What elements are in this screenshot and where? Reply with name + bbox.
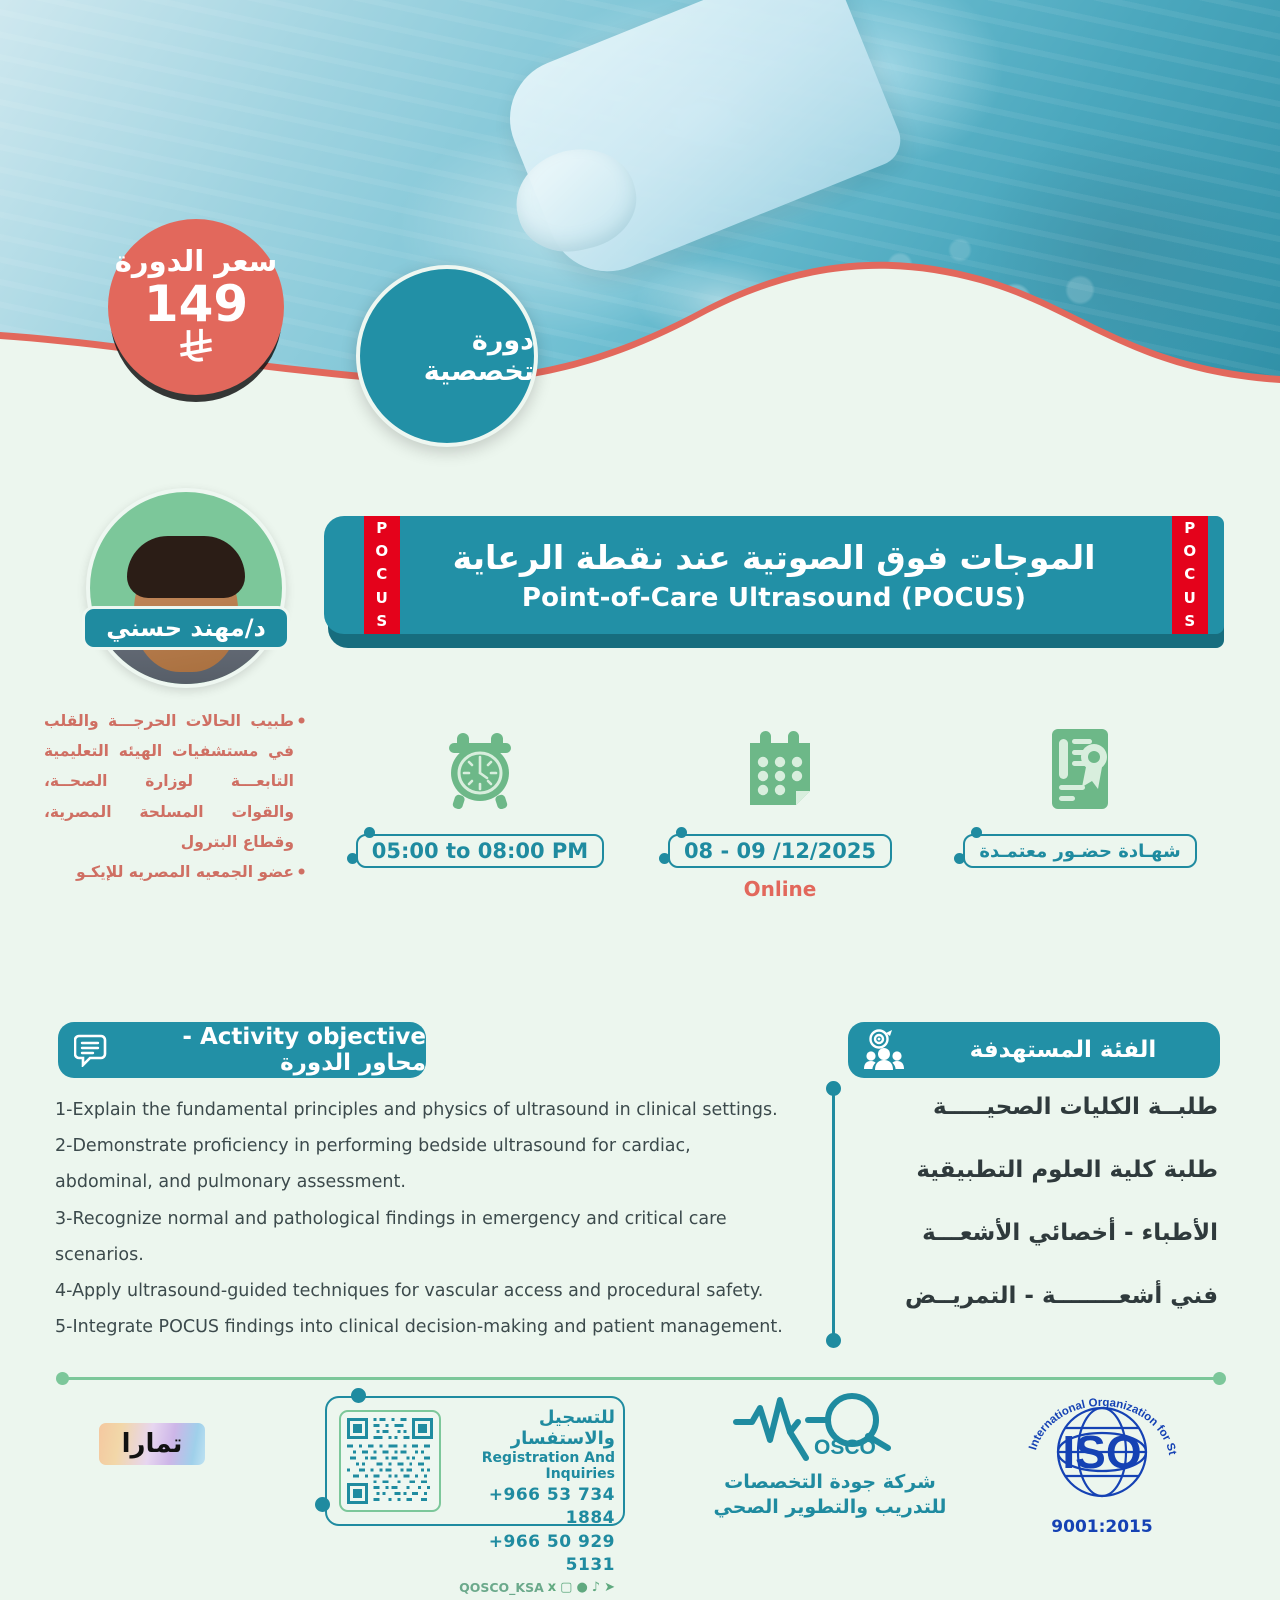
chip-dot <box>971 827 982 838</box>
qosco-logo-block: OSCO شركة جودة التخصصات للتدريب والتطوير… <box>700 1392 960 1519</box>
tiktok-icon[interactable]: ♪ <box>592 1580 600 1595</box>
qosco-logo-icon: OSCO <box>730 1392 930 1462</box>
qosco-name-line1: شركة جودة التخصصات <box>700 1470 960 1495</box>
iso-logo-icon: International Organization for Standardi… <box>1017 1380 1187 1512</box>
calendar-icon <box>744 726 816 812</box>
course-title-banner: الموجات فوق الصوتية عند نقطة الرعاية Poi… <box>324 516 1224 642</box>
chat-lines-icon <box>74 1033 110 1067</box>
chip-dot <box>954 853 965 864</box>
instagram-icon[interactable]: ▢ <box>560 1580 572 1595</box>
price-label: سعر الدورة <box>115 247 277 276</box>
social-row: QOSCO_KSA x ▢ ● ♪ ➤ <box>451 1580 615 1595</box>
alarm-clock-icon <box>441 726 519 812</box>
objective-item: 2-Demonstrate proficiency in performing … <box>55 1128 785 1200</box>
contact-phone-1[interactable]: +966 53 734 1884 <box>451 1484 615 1529</box>
audience-timeline <box>832 1087 835 1342</box>
objectives-list: 1-Explain the fundamental principles and… <box>55 1092 785 1346</box>
chip-dot <box>347 853 358 864</box>
objective-item: 3-Recognize normal and pathological find… <box>55 1201 785 1273</box>
chip-dot <box>315 1497 330 1512</box>
chip-dot <box>364 827 375 838</box>
info-certificate: شهـادة حضـور معتمـدة <box>930 726 1230 868</box>
avatar-hair <box>127 536 245 598</box>
qr-pattern <box>347 1418 433 1504</box>
iso-number: 9001:2015 <box>1012 1517 1192 1537</box>
contact-phone-2[interactable]: +966 50 929 5131 <box>451 1531 615 1576</box>
objectives-title: Activity objective - محاور الدورة <box>124 1024 426 1076</box>
date-chip: 08 - 09 /12/2025 <box>668 834 892 868</box>
audience-item: طلبة كلية العلوم التطبيقية <box>888 1159 1218 1182</box>
contact-details: للتسجيل والاستفسار Registration And Inqu… <box>451 1408 615 1595</box>
price-amount: 149 <box>144 278 248 331</box>
time-chip: 05:00 to 08:00 PM <box>356 834 604 868</box>
pocus-tab-left: POCUS <box>364 516 400 634</box>
qr-code[interactable] <box>339 1410 441 1512</box>
certificate-value: شهـادة حضـور معتمـدة <box>979 841 1180 862</box>
title-banner-body: الموجات فوق الصوتية عند نقطة الرعاية Poi… <box>324 516 1224 634</box>
telegram-icon[interactable]: ➤ <box>604 1580 615 1595</box>
course-info-row: 05:00 to 08:00 PM 08 - 09 /1 <box>330 726 1230 926</box>
audience-list: طلبــة الكليات الصحيـــــة طلبة كلية الع… <box>888 1096 1218 1348</box>
objective-item: 5-Integrate POCUS findings into clinical… <box>55 1309 785 1345</box>
info-time: 05:00 to 08:00 PM <box>330 726 630 868</box>
delivery-mode: Online <box>744 877 817 901</box>
price-badge: سعر الدورة 149 <box>108 219 284 395</box>
snapchat-icon[interactable]: ● <box>576 1580 587 1595</box>
chip-dot <box>659 853 670 864</box>
audience-item: طلبــة الكليات الصحيـــــة <box>888 1096 1218 1119</box>
avatar-photo <box>86 488 286 688</box>
registration-contact-box: للتسجيل والاستفسار Registration And Inqu… <box>325 1396 625 1526</box>
instructor-bio: طبيب الحالات الحرجـــة والقلب في مستشفيا… <box>44 706 294 887</box>
course-type-badge: دورة تخصصية <box>356 265 538 447</box>
time-value: 05:00 to 08:00 PM <box>372 839 588 863</box>
contact-title-arabic: للتسجيل والاستفسار <box>451 1408 615 1449</box>
footer-separator <box>62 1377 1220 1380</box>
qosco-wordmark: OSCO <box>814 1436 876 1459</box>
course-title-arabic: الموجات فوق الصوتية عند نقطة الرعاية <box>453 537 1096 578</box>
target-people-icon <box>864 1029 906 1071</box>
certificate-chip: شهـادة حضـور معتمـدة <box>963 834 1196 868</box>
objective-item: 4-Apply ultrasound-guided techniques for… <box>55 1273 785 1309</box>
bio-item: عضو الجمعيه المصريه للإيكـو <box>44 857 294 887</box>
instructor-name-badge: د/مهند حسني <box>82 606 290 650</box>
tamara-logo: تمارا <box>99 1423 205 1465</box>
audience-title: الفئة المستهدفة <box>920 1037 1220 1063</box>
contact-title-english: Registration And Inquiries <box>451 1450 615 1482</box>
saudi-riyal-symbol-icon <box>176 327 216 367</box>
x-icon[interactable]: x <box>548 1580 556 1595</box>
social-handle: QOSCO_KSA <box>459 1580 544 1595</box>
audience-item: الأطباء - أخصائي الأشعـــة <box>888 1222 1218 1245</box>
objective-item: 1-Explain the fundamental principles and… <box>55 1092 785 1128</box>
bio-item: طبيب الحالات الحرجـــة والقلب في مستشفيا… <box>44 706 294 857</box>
audience-header: الفئة المستهدفة <box>848 1022 1220 1078</box>
qosco-name-line2: للتدريب والتطوير الصحي <box>700 1495 960 1520</box>
info-date: 08 - 09 /12/2025 Online <box>630 726 930 901</box>
chip-dot <box>676 827 687 838</box>
date-value: 08 - 09 /12/2025 <box>684 839 876 863</box>
instructor-avatar: د/مهند حسني <box>86 488 286 688</box>
chip-dot <box>351 1388 366 1403</box>
objectives-header: Activity objective - محاور الدورة <box>58 1022 426 1078</box>
pocus-tab-right: POCUS <box>1172 516 1208 634</box>
course-title-english: Point-of-Care Ultrasound (POCUS) <box>522 583 1026 613</box>
certificate-icon <box>1044 726 1116 812</box>
iso-mark: ISO <box>1062 1426 1141 1478</box>
audience-item: فني أشعــــــــة - التمريــض <box>888 1285 1218 1308</box>
iso-badge: International Organization for Standardi… <box>1012 1380 1192 1537</box>
